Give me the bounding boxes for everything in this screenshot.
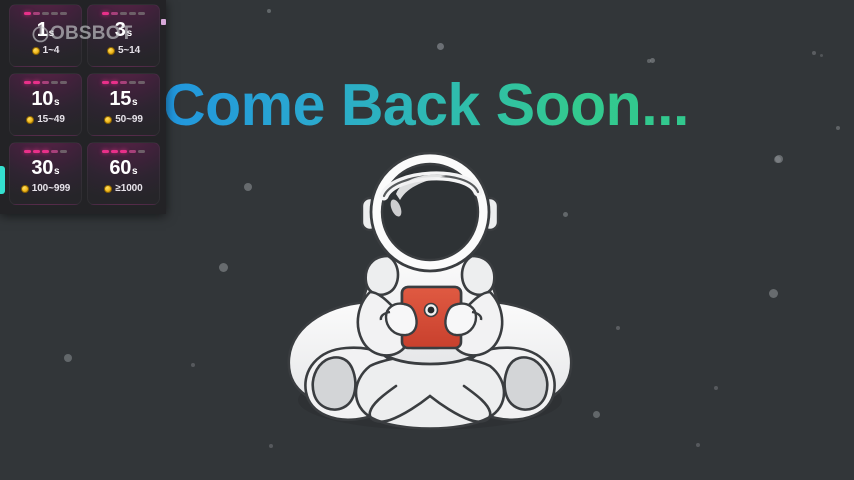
dash-segment (60, 81, 67, 84)
tier-duration: 60 s (109, 158, 137, 179)
tier-card-grid: 1 s 1~4 3 s (9, 4, 161, 205)
dash-segment (138, 12, 145, 15)
tier-range-label: 100~999 (32, 183, 71, 194)
tier-card[interactable]: 10 s 15~49 (9, 73, 82, 136)
dash-segment (33, 81, 40, 84)
tier-duration: 1 s (37, 20, 54, 41)
star-dot (191, 363, 195, 367)
tier-range: 100~999 (21, 183, 71, 194)
dash-segment (51, 150, 58, 153)
tier-duration-unit: s (132, 166, 138, 177)
dash-segment (33, 150, 40, 153)
tier-duration: 10 s (31, 89, 59, 110)
coin-icon (104, 185, 112, 193)
tier-duration-value: 15 (109, 89, 131, 110)
dash-segment (33, 12, 40, 15)
tier-duration-value: 30 (31, 158, 53, 179)
star-dot (616, 326, 620, 330)
dash-segment (42, 81, 49, 84)
tier-range: 1~4 (32, 45, 60, 56)
tier-duration-unit: s (127, 28, 133, 39)
dash-segment (24, 150, 31, 153)
tier-duration-unit: s (54, 97, 60, 108)
tier-range-label: ≥1000 (115, 183, 142, 194)
tier-duration: 30 s (31, 158, 59, 179)
tier-duration-value: 1 (37, 20, 48, 41)
tier-range-label: 5~14 (118, 45, 140, 56)
dash-segment (120, 12, 127, 15)
coin-icon (21, 185, 29, 193)
star-dot (269, 444, 273, 448)
dash-segment (51, 81, 58, 84)
page-stage: Come Back Soon... (0, 0, 854, 480)
tier-progress-dashes (102, 150, 145, 153)
dash-segment (51, 12, 58, 15)
tier-range: 5~14 (107, 45, 140, 56)
page-title: Come Back Soon... (163, 71, 689, 139)
tier-progress-dashes (102, 12, 145, 15)
tier-card[interactable]: 60 s ≥1000 (87, 142, 160, 205)
dash-segment (42, 150, 49, 153)
star-dot (64, 354, 72, 362)
star-dot (437, 43, 444, 50)
dash-segment (24, 12, 31, 15)
star-dot (774, 156, 781, 163)
tier-range: ≥1000 (104, 183, 142, 194)
tier-card[interactable]: 1 s 1~4 (9, 4, 82, 67)
dash-segment (42, 12, 49, 15)
tier-duration: 3 s (115, 20, 132, 41)
astronaut-illustration (278, 152, 582, 448)
tier-progress-dashes (24, 81, 67, 84)
tier-duration: 15 s (109, 89, 137, 110)
star-dot (650, 58, 655, 63)
dash-segment (129, 81, 136, 84)
tier-range-label: 15~49 (37, 114, 65, 125)
dash-segment (102, 150, 109, 153)
left-edge-accent-bar (0, 166, 5, 194)
star-dot (593, 411, 600, 418)
tier-duration-unit: s (54, 166, 60, 177)
dash-segment (138, 150, 145, 153)
dash-segment (111, 150, 118, 153)
coin-icon (104, 116, 112, 124)
tier-card[interactable]: 3 s 5~14 (87, 4, 160, 67)
tier-range-label: 50~99 (115, 114, 143, 125)
tier-progress-dashes (102, 81, 145, 84)
dash-segment (120, 81, 127, 84)
tier-progress-dashes (24, 12, 67, 15)
star-dot (812, 51, 816, 55)
star-dot (714, 386, 718, 390)
reward-tier-panel: 1 s 1~4 3 s (0, 0, 166, 214)
tier-duration-unit: s (132, 97, 138, 108)
star-dot (769, 289, 778, 298)
tier-range: 15~49 (26, 114, 65, 125)
dash-segment (111, 12, 118, 15)
star-dot (775, 155, 783, 163)
tier-duration-value: 3 (115, 20, 126, 41)
coin-icon (26, 116, 34, 124)
tier-range-label: 1~4 (43, 45, 60, 56)
dash-segment (129, 150, 136, 153)
coin-icon (32, 47, 40, 55)
star-dot (219, 263, 228, 272)
dash-segment (111, 81, 118, 84)
dash-segment (138, 81, 145, 84)
tier-duration-value: 60 (109, 158, 131, 179)
tier-card[interactable]: 15 s 50~99 (87, 73, 160, 136)
star-dot (820, 54, 823, 57)
dash-segment (60, 12, 67, 15)
tier-card[interactable]: 30 s 100~999 (9, 142, 82, 205)
star-dot (647, 59, 651, 63)
tier-duration-unit: s (49, 28, 55, 39)
tier-progress-dashes (24, 150, 67, 153)
dash-segment (102, 12, 109, 15)
dash-segment (24, 81, 31, 84)
star-dot (836, 126, 840, 130)
dash-segment (60, 150, 67, 153)
star-dot (244, 183, 252, 191)
coin-icon (107, 47, 115, 55)
panel-corner-marker (161, 19, 166, 25)
tier-range: 50~99 (104, 114, 143, 125)
star-dot (696, 443, 700, 447)
dash-segment (129, 12, 136, 15)
dash-segment (102, 81, 109, 84)
tier-duration-value: 10 (31, 89, 53, 110)
star-dot (267, 9, 271, 13)
dash-segment (120, 150, 127, 153)
